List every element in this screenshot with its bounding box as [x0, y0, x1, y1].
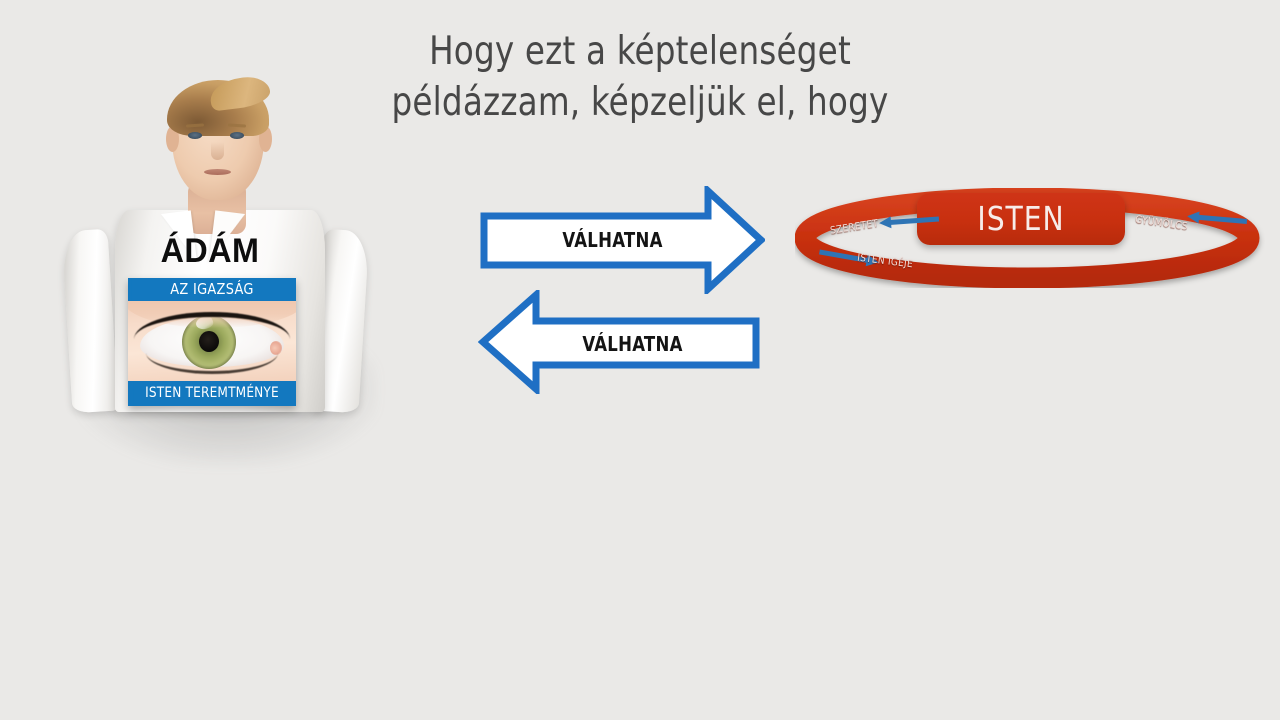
mouth-icon — [204, 169, 231, 175]
poster-bottom-bar-label: ISTEN TEREMTMÉNYE — [134, 381, 290, 406]
isten-cycle-diagram: ISTEN SZERETET GYÜMÖLCS ISTEN IGÉJE — [795, 188, 1265, 288]
nose-icon — [211, 142, 224, 160]
poster-top-bar-label: AZ IGAZSÁG — [131, 278, 292, 301]
valhatna-label-left: VÁLHATNA — [582, 332, 682, 356]
truth-poster: AZ IGAZSÁG ISTEN TEREMTMÉNYE — [128, 278, 296, 406]
eye-lower-lashes — [146, 353, 278, 374]
valhatna-label-right: VÁLHATNA — [562, 228, 662, 252]
isten-center-box: ISTEN — [917, 193, 1125, 245]
face-eye-right-icon — [230, 132, 244, 139]
page-title: Hogy ezt a képtelenséget példázzam, képz… — [277, 26, 1002, 128]
slide-canvas: Hogy ezt a képtelenséget példázzam, képz… — [0, 0, 1280, 720]
eye-photo-icon — [128, 301, 296, 381]
isten-center-label: ISTEN — [922, 193, 1120, 245]
adam-name-label: ÁDÁM — [96, 232, 324, 271]
face-eye-left-icon — [188, 132, 202, 139]
